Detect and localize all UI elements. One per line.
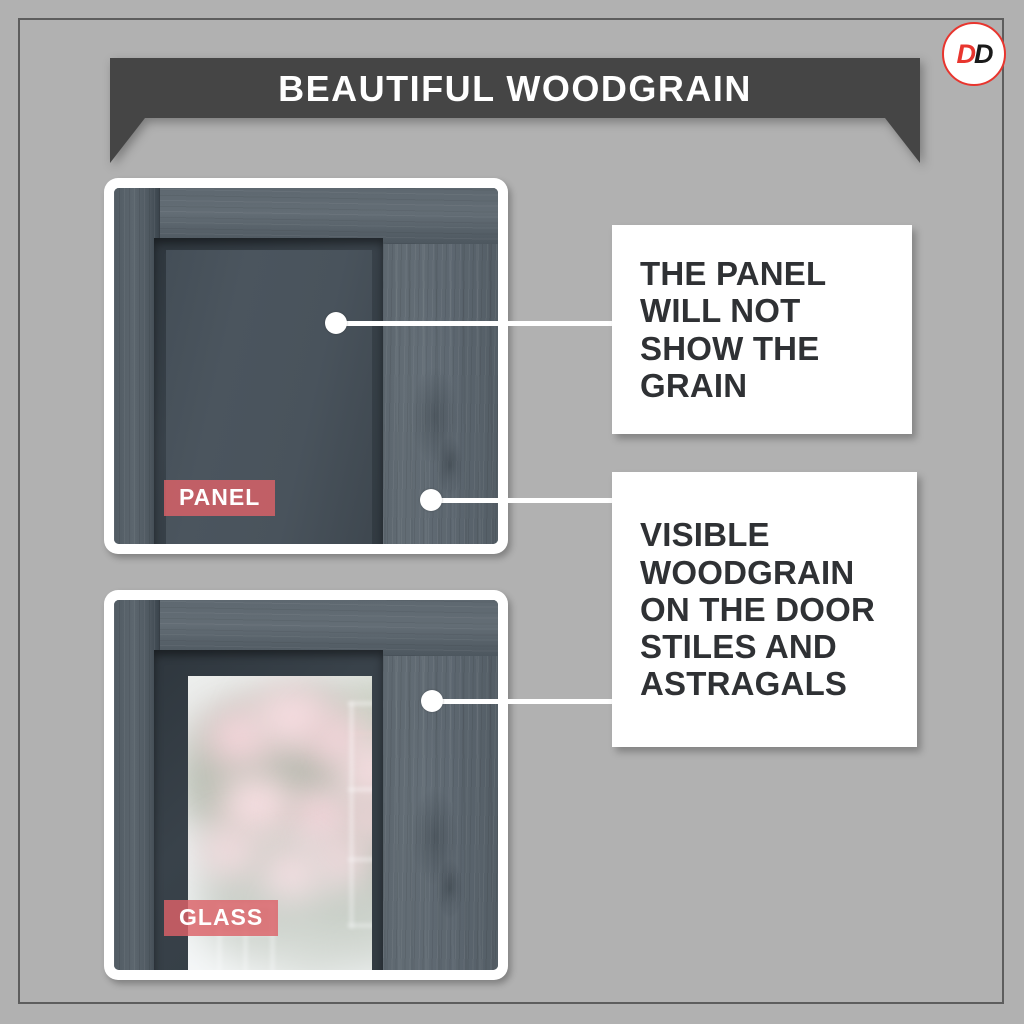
door-top-rail bbox=[114, 188, 498, 244]
callout-line: STILES AND bbox=[640, 628, 875, 665]
connector-line-stile-lower bbox=[431, 699, 614, 704]
glass-photo-card: GLASS bbox=[104, 590, 508, 980]
callout-panel-text: THE PANEL WILL NOT SHOW THE GRAIN bbox=[640, 255, 826, 404]
callout-line: ON THE DOOR bbox=[640, 591, 875, 628]
logo-letters: DD bbox=[957, 41, 992, 68]
logo-letter-first: D bbox=[957, 39, 975, 69]
logo-letter-second: D bbox=[974, 39, 992, 69]
connector-dot-stile-upper bbox=[420, 489, 442, 511]
brand-logo: DD bbox=[942, 22, 1006, 86]
callout-line: THE PANEL bbox=[640, 255, 826, 292]
panel-photo-image: PANEL bbox=[114, 188, 498, 544]
infographic-canvas: DD BEAUTIFUL WOODGRAIN PANEL bbox=[0, 0, 1024, 1024]
callout-woodgrain: VISIBLE WOODGRAIN ON THE DOOR STILES AND… bbox=[612, 472, 917, 747]
callout-woodgrain-text: VISIBLE WOODGRAIN ON THE DOOR STILES AND… bbox=[640, 516, 875, 702]
callout-line: SHOW THE bbox=[640, 330, 826, 367]
connector-dot-stile-lower bbox=[421, 690, 443, 712]
callout-line: ASTRAGALS bbox=[640, 665, 875, 702]
callout-line: VISIBLE bbox=[640, 516, 875, 553]
callout-line: WILL NOT bbox=[640, 292, 826, 329]
connector-line-panel bbox=[334, 321, 614, 326]
glass-tag-label: GLASS bbox=[164, 900, 278, 936]
panel-tag-label: PANEL bbox=[164, 480, 275, 516]
callout-line: GRAIN bbox=[640, 367, 826, 404]
connector-dot-panel bbox=[325, 312, 347, 334]
callout-line: WOODGRAIN bbox=[640, 554, 875, 591]
header-banner: BEAUTIFUL WOODGRAIN bbox=[110, 58, 920, 163]
page-title: BEAUTIFUL WOODGRAIN bbox=[110, 58, 920, 120]
callout-panel: THE PANEL WILL NOT SHOW THE GRAIN bbox=[612, 225, 912, 434]
connector-line-stile-upper bbox=[430, 498, 614, 503]
glass-photo-image: GLASS bbox=[114, 600, 498, 970]
door-top-rail bbox=[114, 600, 498, 656]
